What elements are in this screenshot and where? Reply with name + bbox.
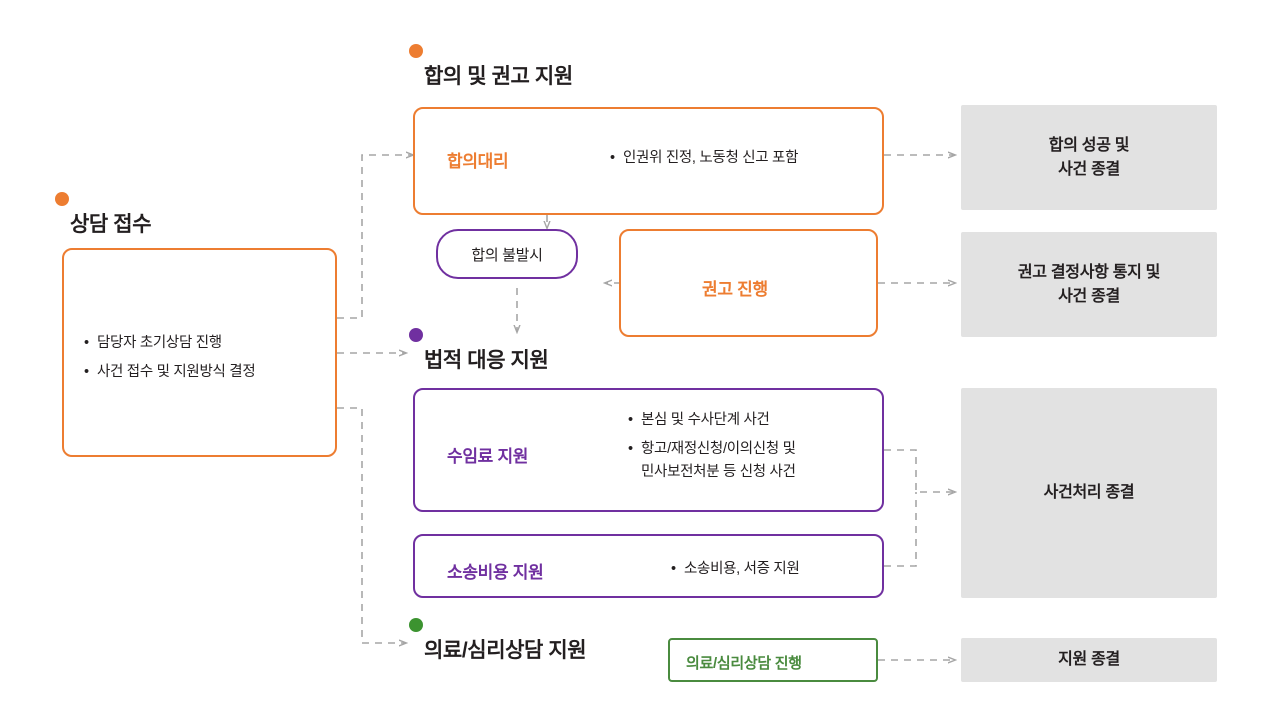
legal-dot-icon [409, 328, 423, 342]
litigation-label: 소송비용 지원 [447, 558, 543, 583]
flow-diagram: 상담 접수 •담당자 초기상담 진행 •사건 접수 및 지원방식 결정 합의 및… [0, 0, 1280, 720]
list-item: •본심 및 수사단계 사건 [628, 409, 878, 431]
arrow-litigation-to-case-done [884, 492, 916, 566]
outcome-support-done[interactable]: 지원 종결 [961, 638, 1217, 682]
medical-dot-icon [409, 618, 423, 632]
arrow-intake-to-agency [337, 155, 413, 318]
no-settlement-pill[interactable]: 합의 불발시 [436, 229, 578, 279]
medical-label: 의료/심리상담 진행 [686, 652, 802, 673]
bullet-dot-icon: • [628, 409, 641, 431]
intake-dot-icon [55, 192, 69, 206]
outcome-recommend-done[interactable]: 권고 결정사항 통지 및 사건 종결 [961, 232, 1217, 337]
intake-bullets: •담당자 초기상담 진행 •사건 접수 및 지원방식 결정 [84, 332, 334, 384]
outcome-settle-done-label: 합의 성공 및 사건 종결 [1049, 134, 1129, 182]
no-settlement-label: 합의 불발시 [471, 244, 542, 265]
list-item: •담당자 초기상담 진행 [84, 332, 334, 354]
retainer-bullets: •본심 및 수사단계 사건 •항고/재정신청/이의신청 및 민사보전처분 등 신… [628, 409, 878, 483]
outcome-support-done-label: 지원 종결 [1058, 648, 1120, 672]
bullet-dot-icon: • [628, 438, 641, 483]
medical-heading: 의료/심리상담 지원 [424, 634, 586, 664]
list-item: •인권위 진정, 노동청 신고 포함 [610, 147, 880, 169]
litigation-bullets: •소송비용, 서증 지원 [671, 558, 901, 580]
list-item: •소송비용, 서증 지원 [671, 558, 901, 580]
outcome-case-done-label: 사건처리 종결 [1044, 481, 1135, 505]
arrow-intake-to-medical [337, 408, 406, 643]
bullet-dot-icon: • [610, 147, 623, 169]
settlement-heading: 합의 및 권고 지원 [424, 60, 573, 90]
settlement-dot-icon [409, 44, 423, 58]
list-item: •사건 접수 및 지원방식 결정 [84, 361, 334, 383]
outcome-case-done[interactable]: 사건처리 종결 [961, 388, 1217, 598]
agency-bullets: •인권위 진정, 노동청 신고 포함 [610, 147, 880, 169]
outcome-settle-done[interactable]: 합의 성공 및 사건 종결 [961, 105, 1217, 210]
legal-heading: 법적 대응 지원 [424, 344, 548, 374]
outcome-recommend-done-label: 권고 결정사항 통지 및 사건 종결 [1018, 261, 1160, 309]
list-item: •항고/재정신청/이의신청 및 민사보전처분 등 신청 사건 [628, 438, 878, 483]
agency-label: 합의대리 [447, 147, 508, 172]
arrow-retainer-to-case-done [884, 450, 955, 492]
bullet-dot-icon: • [84, 361, 97, 383]
intake-heading: 상담 접수 [70, 208, 151, 238]
bullet-dot-icon: • [84, 332, 97, 354]
retainer-label: 수임료 지원 [447, 442, 528, 467]
recommend-label: 권고 진행 [702, 275, 768, 300]
bullet-dot-icon: • [671, 558, 684, 580]
